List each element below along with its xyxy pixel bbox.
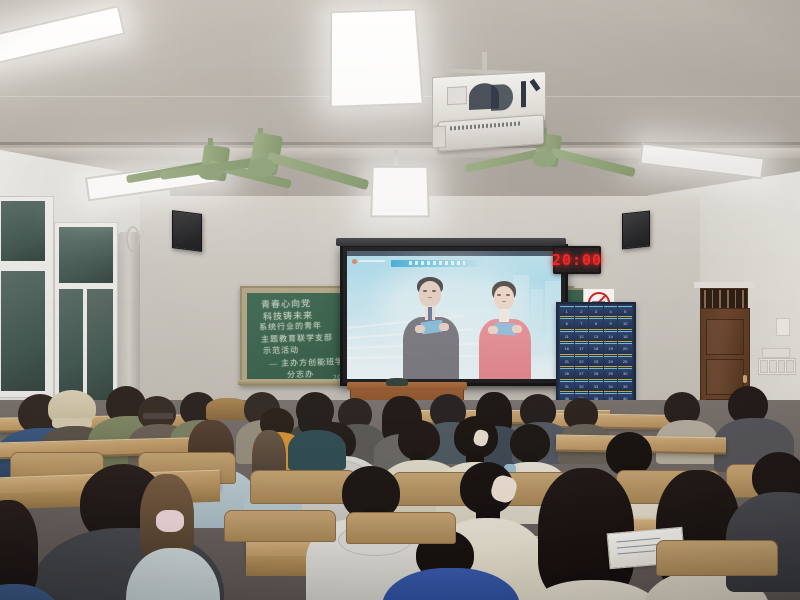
chalk-line: 主题教育联学支部: [261, 332, 333, 345]
pocket-slot[interactable]: 26: [560, 368, 574, 379]
pocket-slot[interactable]: 29: [604, 368, 618, 379]
window-left-near: [54, 222, 118, 414]
lectern-object: [386, 378, 408, 386]
pocket-slot[interactable]: 2: [575, 306, 589, 317]
pocket-slot[interactable]: 12: [575, 331, 589, 342]
pocket-slot[interactable]: 18: [589, 343, 603, 354]
wall-speaker-left: [172, 210, 202, 252]
pocket-slot[interactable]: 23: [589, 356, 603, 367]
pocket-slot[interactable]: 7: [575, 318, 589, 329]
curtain-loop: [126, 226, 140, 252]
pocket-slot[interactable]: 34: [604, 381, 618, 392]
lamp-stem: [394, 150, 398, 166]
chalk-line: 分志办: [287, 369, 314, 381]
projected-broadcast: [347, 251, 561, 379]
pocket-slot[interactable]: 15: [618, 331, 632, 342]
pocket-slot[interactable]: 24: [604, 356, 618, 367]
pocket-slot[interactable]: 27: [575, 368, 589, 379]
chair-back: [250, 470, 356, 504]
chair-back: [346, 512, 456, 544]
door-lintel: [694, 282, 754, 288]
pocket-slot[interactable]: 28: [589, 368, 603, 379]
pocket-slot[interactable]: 5: [618, 306, 632, 317]
pocket-slot[interactable]: 31: [560, 381, 574, 392]
wall-socket: [776, 318, 790, 336]
glasses: [142, 412, 174, 420]
pocket-slot[interactable]: 16: [560, 343, 574, 354]
pocket-slot[interactable]: 33: [589, 381, 603, 392]
projection-screen: [340, 244, 568, 386]
projector-lens: [432, 126, 446, 149]
pocket-slot[interactable]: 21: [560, 356, 574, 367]
door-handle[interactable]: [743, 375, 747, 383]
wall-speaker-right: [622, 211, 650, 250]
pocket-slot[interactable]: 14: [604, 331, 618, 342]
face-mask: [156, 510, 184, 532]
door-transom: [700, 288, 748, 310]
pocket-slot[interactable]: 19: [604, 343, 618, 354]
chalk-line: 示范活动: [263, 344, 299, 356]
pocket-slot[interactable]: 3: [589, 306, 603, 317]
screen-roller-housing: [336, 238, 566, 246]
window-left-far: [0, 196, 54, 398]
chair-back: [656, 540, 778, 576]
chair-back: [224, 510, 336, 542]
pocket-slot[interactable]: 25: [618, 356, 632, 367]
pocket-slot[interactable]: 9: [604, 318, 618, 329]
pocket-slot[interactable]: 32: [575, 381, 589, 392]
pocket-slot[interactable]: 8: [589, 318, 603, 329]
pocket-slot[interactable]: 22: [575, 356, 589, 367]
chalk-line: 系统行业的青年: [259, 320, 322, 333]
led-panel-mid: [370, 166, 430, 217]
pocket-slot[interactable]: 10: [618, 318, 632, 329]
pocket-slot[interactable]: 20: [618, 343, 632, 354]
led-panel-front: [330, 9, 424, 108]
pocket-slot[interactable]: 1: [560, 306, 574, 317]
pocket-slot[interactable]: 11: [560, 331, 574, 342]
light-switch-panel[interactable]: [758, 358, 796, 375]
pocket-slot[interactable]: 30: [618, 368, 632, 379]
wall-label-plate: [762, 348, 790, 358]
pocket-slot[interactable]: 17: [575, 343, 589, 354]
classroom-photo: 青春心向党 科技铸未来 系统行业的青年 主题教育联学支部 示范活动 — 主办方创…: [0, 0, 800, 600]
projection-haze: [347, 251, 561, 379]
pocket-slot[interactable]: 6: [560, 318, 574, 329]
led-wall-clock: 20:00: [553, 246, 601, 274]
pocket-slot[interactable]: 4: [604, 306, 618, 317]
pocket-slot[interactable]: 35: [618, 381, 632, 392]
ceiling-seam: [0, 142, 800, 145]
led-clock-value: 20:00: [552, 251, 602, 269]
pocket-slot[interactable]: 13: [589, 331, 603, 342]
